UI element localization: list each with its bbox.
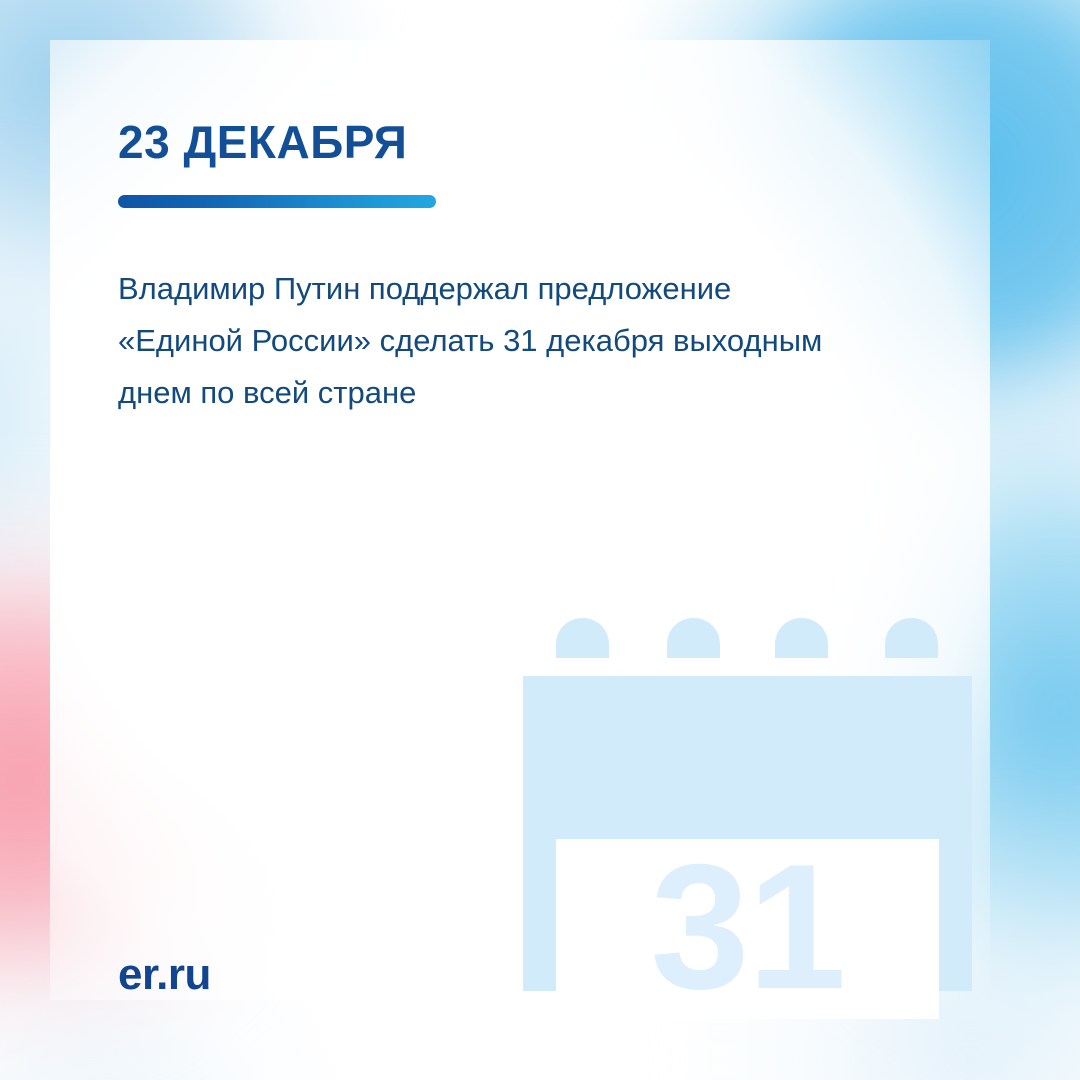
lede-line: Владимир Путин поддержал предложение <box>118 263 948 315</box>
content-column: 23 ДЕКАБРЯ Владимир Путин поддержал пред… <box>118 0 948 1080</box>
lede-line: днем по всей стране <box>118 367 948 419</box>
lede-paragraph: Владимир Путин поддержал предложение «Ед… <box>118 263 948 419</box>
page-title: 23 ДЕКАБРЯ <box>118 118 407 166</box>
social-card: 31 23 ДЕКАБРЯ Владимир Путин поддержал п… <box>0 0 1080 1080</box>
title-underline-rule <box>118 195 436 208</box>
lede-line: «Единой России» сделать 31 декабря выход… <box>118 315 948 367</box>
site-logo[interactable]: er.ru <box>118 953 211 997</box>
